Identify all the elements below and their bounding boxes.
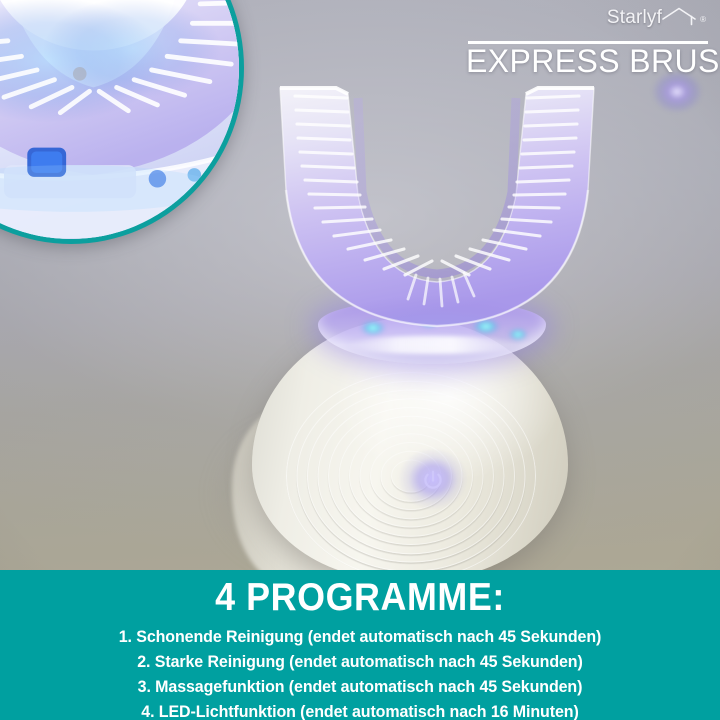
inset-photo [0, 0, 239, 239]
page-title: EXPRESS BRUSH [466, 44, 716, 79]
house-roof-icon [661, 6, 697, 26]
banner-title: 4 PROGRAMME: [29, 578, 691, 619]
list-item: 4. LED-Lichtfunktion (endet automatisch … [11, 700, 709, 720]
registered-trademark-symbol: ® [700, 16, 706, 24]
product-photo-scene: Starlyf ® EXPRESS BRUSH 4 PROGRAMME: 1. … [0, 0, 720, 720]
program-list: 1. Schonende Reinigung (endet automatisc… [0, 625, 720, 720]
list-item: 3. Massagefunktion (endet automatisch na… [11, 675, 709, 700]
list-item: 2. Starke Reinigung (endet automatisch n… [11, 650, 709, 675]
programs-banner: 4 PROGRAMME: 1. Schonende Reinigung (end… [0, 570, 720, 720]
list-item: 1. Schonende Reinigung (endet automatisc… [11, 625, 709, 650]
brand-name: Starlyf [607, 8, 662, 27]
u-shaped-silicone-brush-head [262, 82, 612, 330]
brand-logo: Starlyf ® [607, 6, 706, 27]
collar-highlight [346, 336, 518, 354]
inset-brush-illustration [0, 0, 239, 239]
power-icon [420, 468, 446, 494]
macro-closeup-inset [0, 0, 244, 244]
